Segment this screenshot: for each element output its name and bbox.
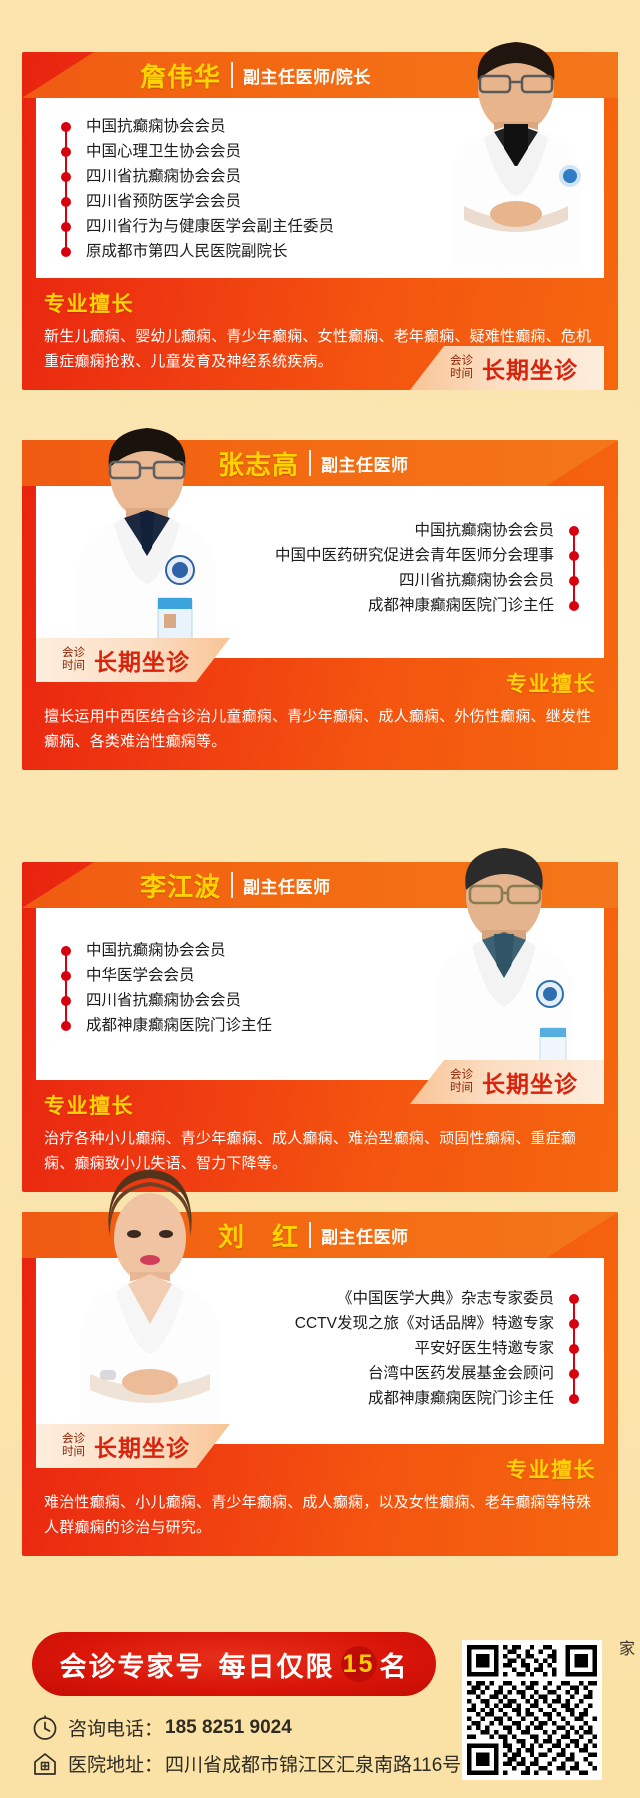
- list-item: 中国抗癫痫协会会员: [56, 114, 584, 139]
- name-separator: [309, 1222, 311, 1248]
- schedule-label: 会诊 时间: [450, 1069, 473, 1095]
- schedule-value: 长期坐诊: [482, 1065, 578, 1099]
- doctor-title: 副主任医师/院长: [243, 63, 371, 88]
- phone-value: 185 8251 9024: [165, 1717, 292, 1739]
- list-item: 四川省行为与健康医学会副主任委员: [56, 214, 584, 239]
- doctor-card-2: 张志高 副主任医师 中国抗癫痫协会会员 中国中医药研究促进会青年医师分会理事 四…: [22, 440, 618, 770]
- name-separator: [231, 62, 233, 88]
- schedule-value: 长期坐诊: [482, 351, 578, 385]
- list-item: 台湾中医药发展基金会顾问: [56, 1361, 584, 1386]
- doctor-name: 刘 红: [218, 1217, 299, 1254]
- schedule-label: 会诊 时间: [62, 1433, 85, 1459]
- schedule-value: 长期坐诊: [94, 1429, 190, 1463]
- doctor-title: 副主任医师: [243, 873, 331, 898]
- schedule-badge-4: 会诊 时间 长期坐诊: [36, 1424, 230, 1468]
- list-item: 成都神康癫痫医院门诊主任: [56, 1013, 584, 1038]
- specialty-text: 擅长运用中西医结合诊治儿童癫痫、青少年癫痫、成人癫痫、外伤性癫痫、继发性癫痫、各…: [44, 704, 596, 754]
- footer: 会诊专家号 每日仅限 15 名 咨询电话： 185 8251 9024: [0, 1632, 640, 1798]
- list-item: 成都神康癫痫医院门诊主任: [56, 1386, 584, 1411]
- doctor-card-1: 詹伟华 副主任医师/院长 中国抗癫痫协会会员 中国心理卫生协会会员 四川省抗癫痫…: [22, 52, 618, 390]
- list-item: 四川省抗癫痫协会会员: [56, 164, 584, 189]
- doctor-name-header-1: 詹伟华 副主任医师/院长: [22, 52, 618, 98]
- name-separator: [231, 872, 233, 898]
- list-item: 四川省抗癫痫协会会员: [56, 988, 584, 1013]
- quota-number: 15: [341, 1646, 377, 1682]
- list-item: 成都神康癫痫医院门诊主任: [56, 593, 584, 618]
- qr-side-text: 扫一扫 预约专家: [612, 1640, 640, 1780]
- doctor-name: 詹伟华: [140, 57, 221, 94]
- list-item: 中国心理卫生协会会员: [56, 139, 584, 164]
- address-value: 四川省成都市锦江区汇泉南路116号: [165, 1750, 461, 1777]
- credential-list: 《中国医学大典》杂志专家委员 CCTV发现之旅《对话品牌》特邀专家 平安好医生特…: [56, 1286, 584, 1411]
- credential-panel-2: 中国抗癫痫协会会员 中国中医药研究促进会青年医师分会理事 四川省抗癫痫协会会员 …: [36, 486, 604, 658]
- list-item: 《中国医学大典》杂志专家委员: [56, 1286, 584, 1311]
- cta-middle: 每日仅限: [219, 1645, 335, 1684]
- promo-page: 詹伟华 副主任医师/院长 中国抗癫痫协会会员 中国心理卫生协会会员 四川省抗癫痫…: [0, 0, 640, 1798]
- doctor-title: 副主任医师: [321, 1223, 409, 1248]
- name-separator: [309, 450, 311, 476]
- list-item: 中国中医药研究促进会青年医师分会理事: [56, 543, 584, 568]
- schedule-badge-1: 会诊 时间 长期坐诊: [410, 346, 604, 390]
- doctor-name: 李江波: [140, 867, 221, 904]
- clock-icon: [32, 1715, 58, 1741]
- doctor-name-header-4: 刘 红 副主任医师: [22, 1212, 618, 1258]
- qr-block: 扫一扫 预约专家: [462, 1640, 640, 1780]
- doctor-card-4: 刘 红 副主任医师 《中国医学大典》杂志专家委员 CCTV发现之旅《对话品牌》特…: [22, 1212, 618, 1556]
- hospital-icon: [32, 1751, 58, 1777]
- list-item: 四川省抗癫痫协会会员: [56, 568, 584, 593]
- credential-panel-4: 《中国医学大典》杂志专家委员 CCTV发现之旅《对话品牌》特邀专家 平安好医生特…: [36, 1258, 604, 1444]
- schedule-value: 长期坐诊: [94, 643, 190, 677]
- phone-label: 咨询电话：: [68, 1714, 163, 1741]
- phone-row[interactable]: 咨询电话： 185 8251 9024: [32, 1714, 292, 1741]
- list-item: 中华医学会会员: [56, 963, 584, 988]
- list-item: 中国抗癫痫协会会员: [56, 938, 584, 963]
- schedule-badge-3: 会诊 时间 长期坐诊: [410, 1060, 604, 1104]
- qr-code[interactable]: [462, 1640, 602, 1780]
- specialty-text: 治疗各种小儿癫痫、青少年癫痫、成人癫痫、难治型癫痫、顽固性癫痫、重症癫痫、癫痫致…: [44, 1126, 596, 1176]
- list-item: CCTV发现之旅《对话品牌》特邀专家: [56, 1311, 584, 1336]
- address-row[interactable]: 医院地址： 四川省成都市锦江区汇泉南路116号: [32, 1750, 461, 1777]
- credential-panel-3: 中国抗癫痫协会会员 中华医学会会员 四川省抗癫痫协会会员 成都神康癫痫医院门诊主…: [36, 908, 604, 1080]
- specialty-text: 难治性癫痫、小儿癫痫、青少年癫痫、成人癫痫，以及女性癫痫、老年癫痫等特殊人群癫痫…: [44, 1490, 596, 1540]
- doctor-name-header-3: 李江波 副主任医师: [22, 862, 618, 908]
- doctor-card-3: 李江波 副主任医师 中国抗癫痫协会会员 中华医学会会员 四川省抗癫痫协会会员 成…: [22, 862, 618, 1192]
- doctor-name-header-2: 张志高 副主任医师: [22, 440, 618, 486]
- credential-list: 中国抗癫痫协会会员 中华医学会会员 四川省抗癫痫协会会员 成都神康癫痫医院门诊主…: [56, 938, 584, 1038]
- cta-prefix: 会诊专家号: [60, 1645, 205, 1684]
- doctor-title: 副主任医师: [321, 451, 409, 476]
- credential-panel-1: 中国抗癫痫协会会员 中国心理卫生协会会员 四川省抗癫痫协会会员 四川省预防医学会…: [36, 98, 604, 278]
- list-item: 原成都市第四人民医院副院长: [56, 239, 584, 264]
- schedule-label: 会诊 时间: [450, 355, 473, 381]
- credential-list: 中国抗癫痫协会会员 中国中医药研究促进会青年医师分会理事 四川省抗癫痫协会会员 …: [56, 518, 584, 618]
- specialty-heading: 专业擅长: [44, 288, 596, 318]
- address-label: 医院地址：: [68, 1750, 163, 1777]
- schedule-badge-2: 会诊 时间 长期坐诊: [36, 638, 230, 682]
- list-item: 中国抗癫痫协会会员: [56, 518, 584, 543]
- list-item: 平安好医生特邀专家: [56, 1336, 584, 1361]
- doctor-name: 张志高: [218, 445, 299, 482]
- schedule-label: 会诊 时间: [62, 647, 85, 673]
- consultation-quota-banner[interactable]: 会诊专家号 每日仅限 15 名: [32, 1632, 436, 1696]
- credential-list: 中国抗癫痫协会会员 中国心理卫生协会会员 四川省抗癫痫协会会员 四川省预防医学会…: [56, 114, 584, 264]
- cta-suffix: 名: [380, 1645, 409, 1684]
- list-item: 四川省预防医学会会员: [56, 189, 584, 214]
